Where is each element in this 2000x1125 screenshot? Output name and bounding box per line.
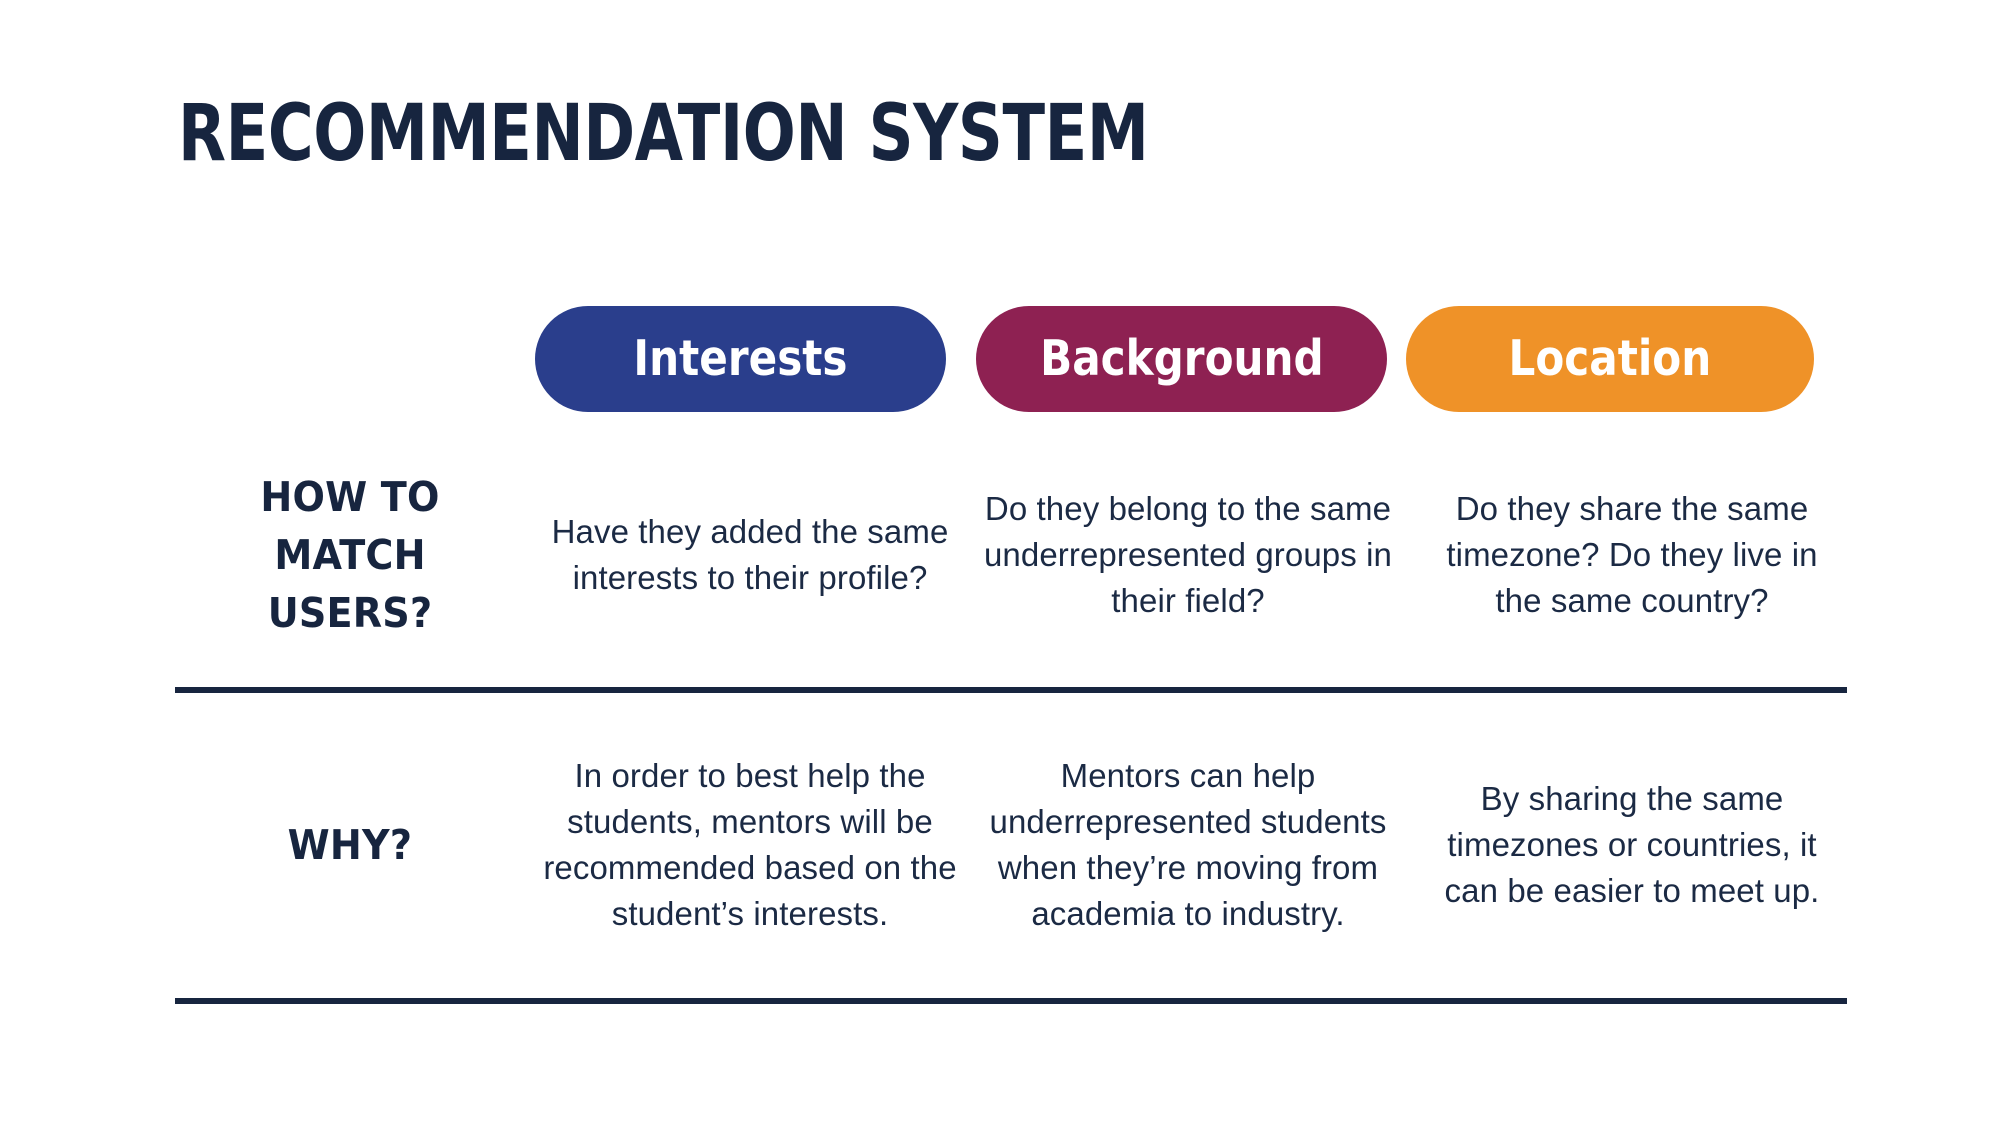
cell-text-why-background: Mentors can help underrepresented studen… [979, 753, 1397, 937]
column-header-pill-interests[interactable]: Interests [535, 306, 946, 412]
cell-why-location: By sharing the same timezones or countri… [1417, 776, 1847, 914]
slide-canvas: RECOMMENDATION SYSTEM Interests Backgrou… [0, 0, 2000, 1125]
row-label-cell-why: WHY? [175, 816, 535, 874]
cell-text-how-to-match-users-interests: Have they added the same interests to th… [541, 509, 959, 601]
table-row: WHY? In order to best help the students,… [175, 700, 1845, 990]
cell-how-to-match-users-interests: Have they added the same interests to th… [535, 509, 965, 601]
row-divider-bottom [175, 998, 1847, 1004]
column-header-label-interests: Interests [633, 333, 847, 385]
row-label-why: WHY? [288, 816, 412, 874]
column-header-row: Interests Background Location [535, 306, 1815, 412]
cell-how-to-match-users-background: Do they belong to the same underrepresen… [973, 486, 1403, 624]
table-row: HOW TO MATCH USERS? Have they added the … [175, 430, 1845, 680]
cell-text-why-location: By sharing the same timezones or countri… [1423, 776, 1841, 914]
row-divider-middle [175, 687, 1847, 693]
page-title: RECOMMENDATION SYSTEM [178, 88, 1149, 180]
cell-why-background: Mentors can help underrepresented studen… [973, 753, 1403, 937]
cell-why-interests: In order to best help the students, ment… [535, 753, 965, 937]
cell-text-how-to-match-users-location: Do they share the same timezone? Do they… [1423, 486, 1841, 624]
column-header-pill-background[interactable]: Background [976, 306, 1387, 412]
column-header-label-location: Location [1509, 333, 1712, 385]
column-header-pill-location[interactable]: Location [1406, 306, 1814, 412]
row-label-cell-how-to-match-users: HOW TO MATCH USERS? [175, 468, 535, 642]
column-header-label-background: Background [1040, 333, 1324, 385]
cell-how-to-match-users-location: Do they share the same timezone? Do they… [1417, 486, 1847, 624]
cell-text-how-to-match-users-background: Do they belong to the same underrepresen… [979, 486, 1397, 624]
row-label-how-to-match-users: HOW TO MATCH USERS? [187, 468, 513, 642]
cell-text-why-interests: In order to best help the students, ment… [541, 753, 959, 937]
